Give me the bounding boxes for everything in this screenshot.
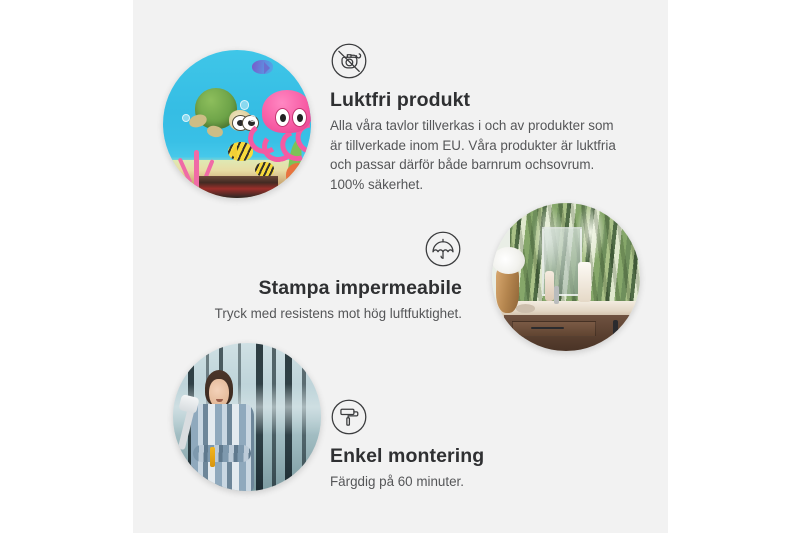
toiletry-bottle <box>578 262 591 302</box>
soap-dish <box>516 304 535 313</box>
feature-image-woman-with-paint-roller-forest-mural <box>173 343 321 491</box>
folded-arms <box>193 445 251 462</box>
sea-turtle-icon <box>187 83 255 145</box>
feature-image-underwater-cartoon-mural <box>163 50 311 198</box>
bathroom-scene <box>492 203 640 351</box>
toiletry-bottle <box>545 271 554 301</box>
cabinet-handle <box>613 320 618 338</box>
forest-mural-scene <box>173 343 321 491</box>
feature-description: Alla våra tavlor tillverkas i och av pro… <box>330 116 626 194</box>
feature-block-stampa-impermeabile: Stampa impermeabile Tryck med resistens … <box>200 230 462 324</box>
purple-fish-icon <box>252 60 273 73</box>
product-feature-banner: Luktfri produkt Alla våra tavlor tillver… <box>0 0 800 533</box>
drawer-handle <box>531 327 564 329</box>
umbrella-waterproof-icon <box>424 230 462 268</box>
feature-image-bathroom-botanical-wallpaper <box>492 203 640 351</box>
woman-figure <box>185 370 268 491</box>
foreground-strip <box>199 176 279 198</box>
bubble-icon <box>182 114 190 122</box>
feature-title: Luktfri produkt <box>330 89 626 112</box>
wooden-vanity <box>504 315 640 351</box>
white-flowers <box>492 247 525 274</box>
faucet-icon <box>554 286 558 304</box>
vanity-drawer <box>512 321 596 337</box>
bubble-icon <box>240 100 249 109</box>
handheld-tool <box>210 447 216 466</box>
vase <box>496 268 518 312</box>
feature-block-enkel-montering: Enkel montering Färgdig på 60 minuter. <box>330 398 620 492</box>
underwater-scene <box>163 50 311 198</box>
feature-description: Färgdig på 60 minuter. <box>330 472 620 492</box>
crab-icon <box>286 163 310 187</box>
no-scent-perfume-bottle-icon <box>330 42 368 80</box>
feature-block-luktfri-produkt: Luktfri produkt Alla våra tavlor tillver… <box>330 42 626 194</box>
feature-title: Enkel montering <box>330 445 620 468</box>
octopus-icon <box>252 90 311 161</box>
feature-title: Stampa impermeabile <box>200 277 462 300</box>
feature-description: Tryck med resistens mot hög luftfuktighe… <box>200 304 462 324</box>
paint-roller-icon <box>330 398 368 436</box>
